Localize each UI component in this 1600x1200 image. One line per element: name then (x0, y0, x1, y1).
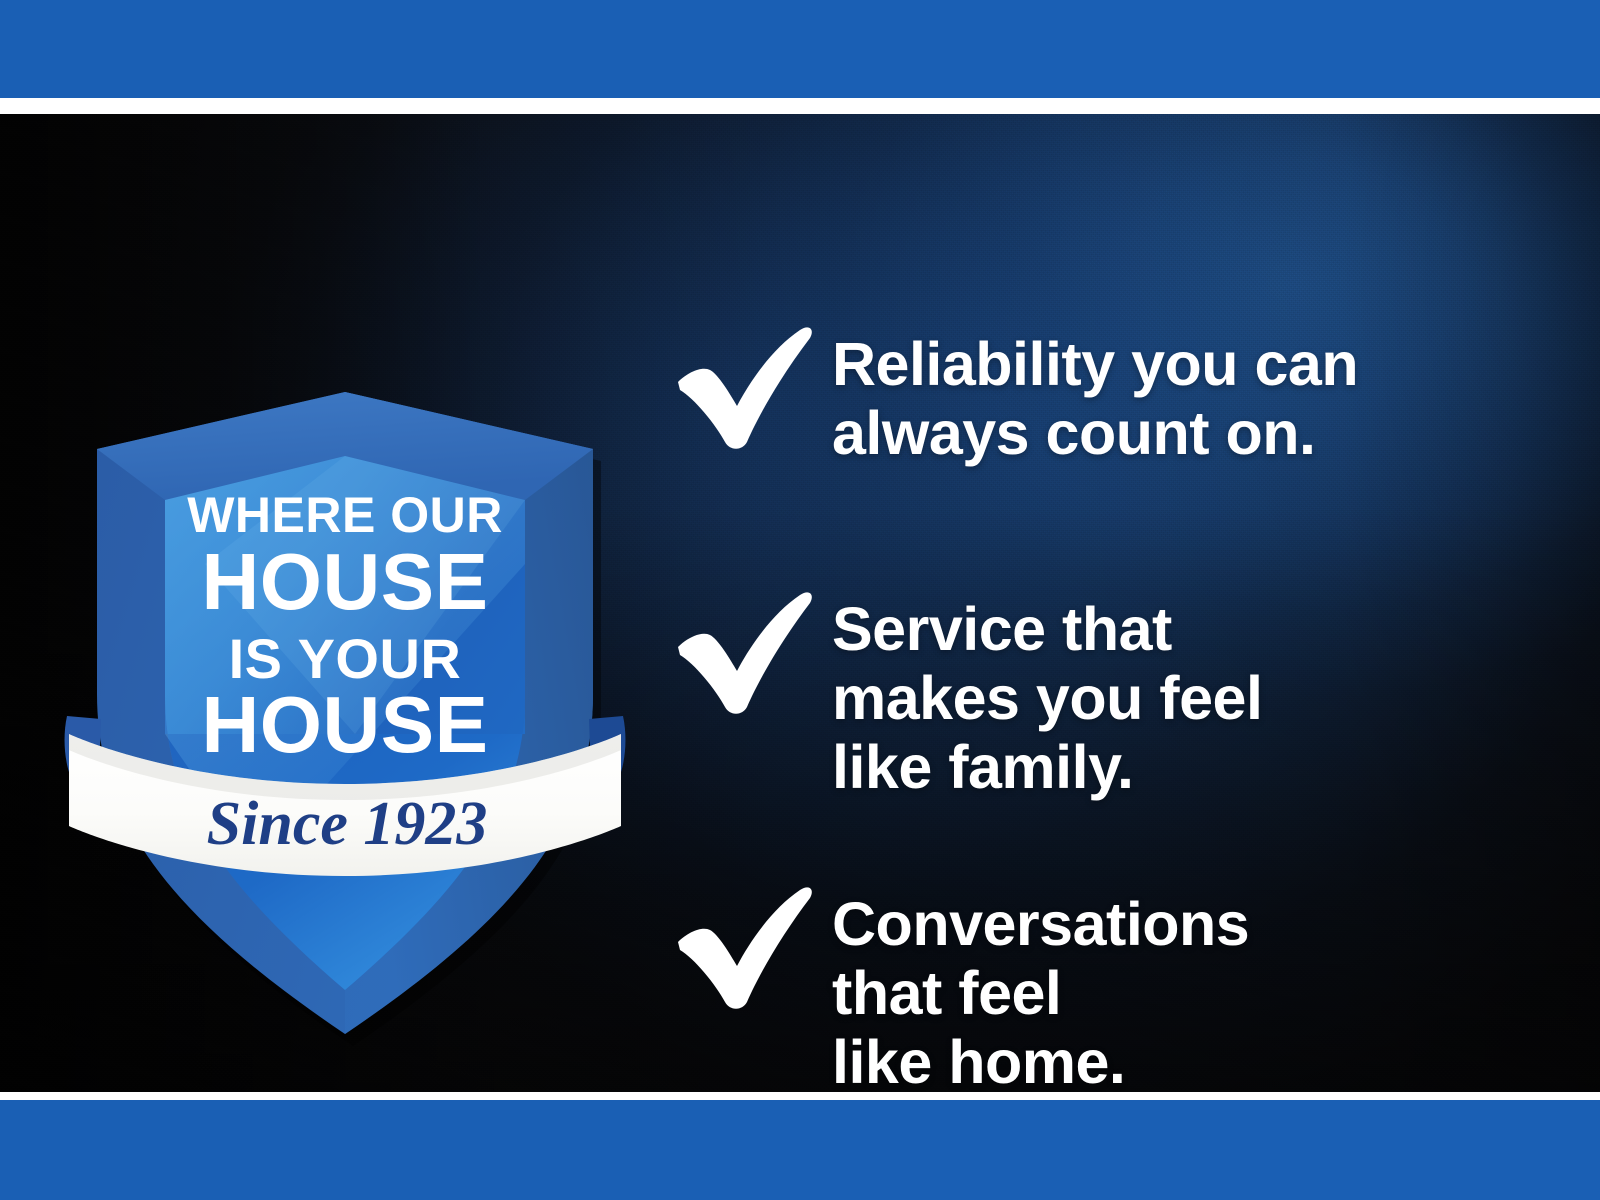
benefit-item: Service that makes you feel like family. (672, 589, 1262, 802)
poster-stage: WHERE OUR HOUSE IS YOUR HOUSE Since 1923 (0, 114, 1600, 1092)
checkmark-icon (672, 324, 818, 449)
benefit-text: Conversations that feel like home. (832, 884, 1249, 1092)
bottom-brand-bar (0, 1100, 1600, 1200)
benefit-item: Reliability you can always count on. (672, 324, 1358, 468)
shield-emblem: WHERE OUR HOUSE IS YOUR HOUSE Since 1923 (55, 264, 635, 1054)
shield-text-line-4: HOUSE (202, 680, 489, 769)
promo-poster: WHERE OUR HOUSE IS YOUR HOUSE Since 1923 (0, 0, 1600, 1200)
benefit-text: Reliability you can always count on. (832, 324, 1358, 468)
ribbon-since-text: Since 1923 (207, 790, 488, 858)
checkmark-icon (672, 589, 818, 714)
shield-text-line-1: WHERE OUR (187, 487, 503, 543)
shield-text-line-2: HOUSE (202, 537, 489, 626)
benefit-text: Service that makes you feel like family. (832, 589, 1262, 802)
checkmark-icon (672, 884, 818, 1009)
top-brand-bar (0, 0, 1600, 98)
benefit-item: Conversations that feel like home. (672, 884, 1249, 1092)
benefits-list: Reliability you can always count on. Ser… (672, 264, 1552, 1092)
